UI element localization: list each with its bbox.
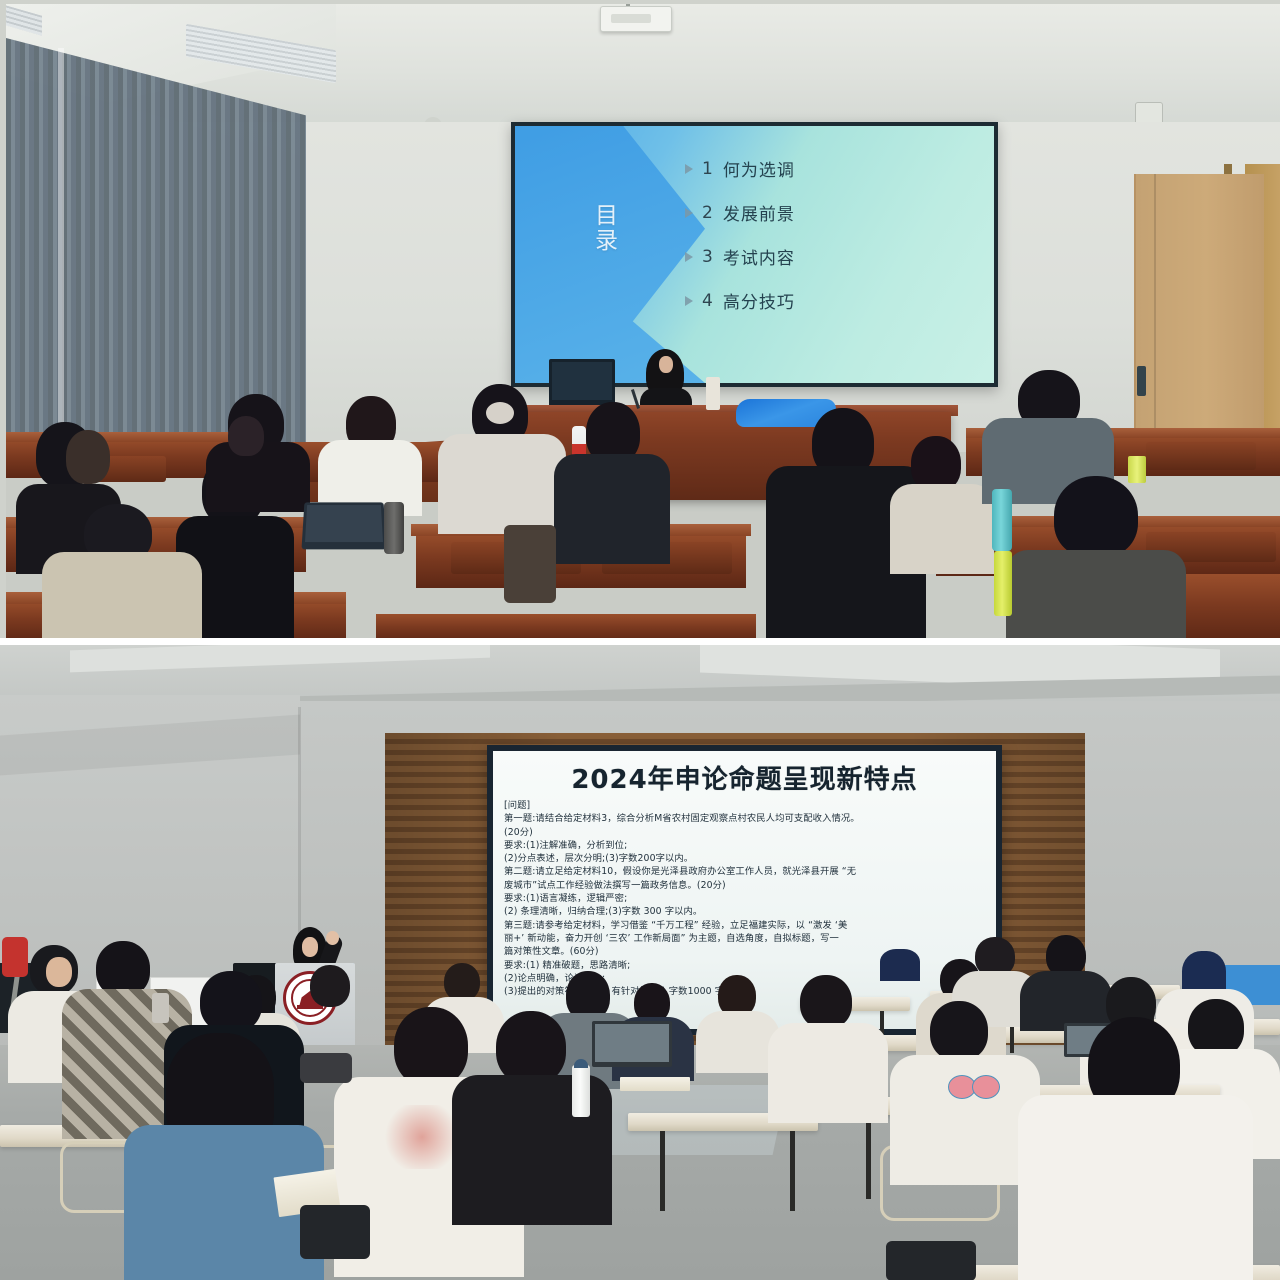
presenter-face [302,937,318,957]
projection-screen: 目 录 1 何为选调 2 发展前景 [515,126,994,383]
toc-item-4: 4 高分技巧 [685,288,985,313]
toc-number: 3 [702,247,713,267]
teal-bottle-icon [992,489,1012,551]
student-head [394,1007,468,1087]
triangle-bullet-icon [685,208,693,218]
student-torso-white [438,434,566,534]
slide-line: 要求:(1)注解准确，分析到位; [504,839,990,852]
student-head [200,971,262,1033]
bottom-photo-panel: 2024年申论命题呈现新特点 [问题] 第一题:请结合给定材料3，综合分析M省农… [0,645,1280,1280]
toc-label: 何为选调 [723,156,795,181]
panel-divider [0,638,1280,645]
toc-number: 4 [702,291,713,311]
projection-screen-frame: 目 录 1 何为选调 2 发展前景 [511,122,998,387]
backpack-icon [300,1205,370,1259]
thermos-icon [384,502,404,554]
tumbler-icon [152,993,169,1023]
student-head [800,975,852,1029]
shirt-flower-graphic [972,1075,1000,1099]
slide-line: 第二题:请立足给定材料10，假设你是光泽县政府办公室工作人员，就光泽县开展 “无 [504,865,990,878]
triangle-bullet-icon [685,252,693,262]
slide-line: (2)分点表述，层次分明;(3)字数200字以内。 [504,852,990,865]
laptop-icon [301,502,386,549]
water-bottle-icon [572,1065,590,1117]
slide-title: 2024年申论命题呈现新特点 [493,759,996,796]
toc-number: 2 [702,203,713,223]
paper-cup-icon [706,377,720,410]
curtain-highlight [58,48,64,458]
handbag-icon [504,525,556,603]
desk-leg [660,1131,665,1211]
student-torso [554,454,670,564]
broom-head-icon [2,937,28,977]
desktop-monitor-icon [549,359,615,407]
presenter-hand [326,931,339,945]
slide-line: 要求:(1)语言凝练，逻辑严密; [504,892,990,905]
student-head [930,1001,988,1061]
bottle-cap-icon [574,1059,588,1068]
toc-item-1: 1 何为选调 [685,156,985,181]
toc-item-2: 2 发展前景 [685,200,985,225]
slide-decoration-shape [515,126,705,383]
desk-leg [866,1115,871,1199]
student-head [1054,476,1138,558]
laptop-icon [592,1021,672,1067]
toc-label: 发展前景 [723,200,795,225]
hair-tie-icon [486,402,514,424]
yellow-bottle-icon [994,551,1012,616]
slide-side-label: 目 录 [587,204,627,254]
lecturer-face [659,356,673,373]
bench-seatback [1146,442,1256,470]
student-torso [768,1023,888,1123]
slide-line: 丽+’ 新动能，奋力开创 ‘三农’ 工作新局面” 为主题，自选角度，自拟标题，写… [504,932,990,945]
student-torso [1006,550,1186,638]
student-torso [1020,971,1112,1031]
emblem-base-glyph [297,1005,323,1009]
yellow-cup-icon [1128,456,1146,483]
student-torso-white [1018,1095,1253,1280]
toc-label: 考试内容 [723,244,795,269]
door-edge [1154,174,1156,454]
photo-collage: 目 录 1 何为选调 2 发展前景 [0,0,1280,1280]
backpack-icon [886,1241,976,1280]
slide-line: 废城市”试点工作经验做法撰写一篇政务信息。(20分) [504,879,990,892]
door-handle-icon[interactable] [1137,366,1146,396]
student-head [228,416,264,456]
toc-label: 高分技巧 [723,288,795,313]
toc-number: 1 [702,159,713,179]
student-head [496,1011,566,1085]
slide-line: (20分) [504,826,990,839]
student-torso [890,484,994,574]
slide-line: 第一题:请结合给定材料3，综合分析M省农村固定观察点村农民人均可支配收入情况。 [504,812,990,825]
bench-row-front [376,614,756,638]
slide-line: [问题] [504,799,990,812]
bag-icon [300,1053,352,1083]
toc-item-3: 3 考试内容 [685,244,985,269]
student-head [310,965,350,1007]
student-head [444,963,480,1001]
desk-leg [790,1131,795,1211]
student-head [880,949,920,981]
slide-toc-list: 1 何为选调 2 发展前景 3 考试内容 [685,156,985,332]
student-torso-beige [42,552,202,638]
student-hair-bun [66,430,110,484]
top-photo-panel: 目 录 1 何为选调 2 发展前景 [0,0,1280,638]
student-face [46,957,72,987]
triangle-bullet-icon [685,164,693,174]
notebook-icon [620,1077,690,1091]
slide-line: (2) 条理清晰，归纳合理;(3)字数 300 字以内。 [504,905,990,918]
projector-icon [600,6,672,32]
slide-line: 第三题:请参考给定材料，学习借鉴 “千万工程” 经验，立足福建实际，以 “激发 … [504,919,990,932]
triangle-bullet-icon [685,296,693,306]
